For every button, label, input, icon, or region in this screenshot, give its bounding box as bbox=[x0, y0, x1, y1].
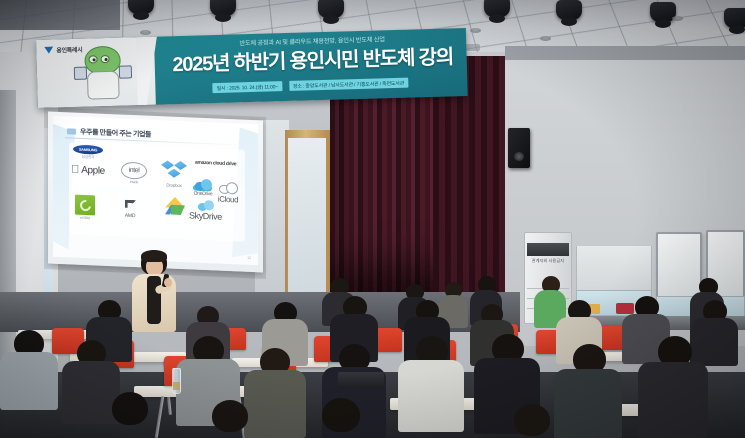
nvidia-icon bbox=[75, 195, 95, 216]
logo-label: amazon cloud drive bbox=[195, 160, 236, 168]
logo-label: Dropbox bbox=[166, 182, 181, 188]
logo-amd: AMD bbox=[123, 199, 137, 219]
chip-icon bbox=[119, 65, 132, 78]
head bbox=[112, 392, 148, 425]
presenter-fringe bbox=[141, 250, 167, 262]
banner-date: 일시 : 2025. 10. 24.(금) 11:00~ bbox=[213, 81, 283, 93]
ceiling-spotlight bbox=[724, 8, 745, 28]
presenter-inner-top bbox=[147, 276, 161, 324]
audience-member bbox=[492, 404, 570, 438]
audience-member bbox=[190, 400, 268, 438]
audience-member bbox=[92, 392, 166, 438]
intel-icon: intel bbox=[121, 162, 147, 180]
dropbox-icon bbox=[161, 158, 187, 183]
logo-intel: intel inside bbox=[121, 162, 147, 185]
ceiling-spotlight bbox=[556, 0, 582, 20]
apple-icon:  Apple bbox=[71, 164, 105, 176]
logo-label: intel bbox=[129, 167, 140, 174]
audience-member bbox=[0, 330, 58, 410]
amazon-icon: amazon cloud drive bbox=[195, 160, 236, 168]
logo-caption: AMD bbox=[125, 212, 136, 218]
samsung-icon: SAMSUNG bbox=[73, 145, 103, 155]
presenter-hand bbox=[164, 278, 172, 287]
dropbox-facet bbox=[168, 169, 181, 179]
ceiling-spotlight bbox=[128, 0, 154, 14]
skydrive-cloud-icon bbox=[197, 200, 214, 212]
gdrive-face bbox=[171, 205, 185, 216]
logo-dropbox: Dropbox bbox=[161, 158, 187, 188]
banner-footer: 일시 : 2025. 10. 24.(금) 11:00~ 장소 : 중앙도서관 … bbox=[157, 76, 463, 95]
audience-member bbox=[300, 398, 380, 438]
head bbox=[212, 400, 248, 432]
mascot-body bbox=[87, 71, 120, 100]
torso bbox=[0, 352, 58, 410]
logo-google-drive bbox=[165, 196, 185, 215]
sprinkler-head bbox=[672, 16, 683, 21]
dropbox-facet bbox=[161, 160, 174, 170]
laptop[interactable] bbox=[338, 372, 384, 388]
wall-speaker-icon bbox=[508, 128, 530, 168]
stage-door[interactable] bbox=[288, 138, 326, 295]
amd-icon bbox=[123, 199, 137, 213]
logo-onedrive: OneDrive bbox=[193, 178, 213, 198]
logo-caption: inside bbox=[130, 179, 138, 183]
event-banner: 용인특례시 반도체 공정과 AI 및 클라우드 채용전망, 용인시 반도체 산업… bbox=[36, 28, 468, 108]
torso bbox=[638, 362, 708, 438]
air-conditioner-display bbox=[527, 243, 569, 256]
amd-arrow-icon bbox=[125, 200, 136, 211]
sprinkler-head bbox=[540, 36, 551, 41]
icloud-cloud-icon bbox=[217, 181, 239, 196]
water-bottle[interactable] bbox=[172, 368, 181, 394]
audience-member bbox=[638, 336, 708, 438]
air-conditioner-label: 관계자외 사용금지 bbox=[529, 258, 567, 263]
banner-venue: 장소 : 중앙도서관 / 남사도서관 / 기흥도서관 / 죽전도서관 bbox=[289, 78, 408, 91]
logo-samsung: SAMSUNG 삼성전자 bbox=[73, 145, 103, 161]
logo-label: SkyDrive bbox=[189, 210, 222, 221]
google-drive-icon bbox=[165, 196, 185, 215]
logo-caption: nVIDIA bbox=[80, 215, 90, 219]
cloud-puff bbox=[204, 200, 214, 210]
lecture-hall-photo: 관계자외 사용금지 용인특례시 반도체 공정과 AI 및 클라우드 채용전망, … bbox=[0, 0, 745, 438]
logo-label: Apple bbox=[81, 165, 105, 177]
head bbox=[514, 404, 550, 436]
ceiling-spotlight bbox=[318, 0, 344, 18]
apple-glyph-icon:  bbox=[71, 164, 79, 175]
ceiling-shadow bbox=[0, 0, 120, 30]
sprinkler-head bbox=[470, 28, 481, 33]
window-blind[interactable] bbox=[576, 246, 652, 292]
logo-amazon-cloud-drive: amazon cloud drive bbox=[195, 160, 236, 168]
audience-member bbox=[398, 336, 464, 432]
projection-screen: 우주를 만들어 주는 기업들 SAMSUNG 삼성전자  Apple bbox=[48, 111, 263, 272]
bullet-icon bbox=[67, 128, 76, 134]
logo-label: OneDrive bbox=[194, 191, 213, 198]
ceiling-spotlight bbox=[210, 0, 236, 16]
right-wall-header bbox=[505, 46, 745, 60]
presentation-slide: 우주를 만들어 주는 기업들 SAMSUNG 삼성전자  Apple bbox=[53, 116, 258, 266]
ceiling-spotlight bbox=[484, 0, 510, 17]
logo-skydrive: SkyDrive bbox=[189, 199, 222, 221]
chip-icon bbox=[74, 67, 87, 80]
cloud-puff bbox=[226, 182, 238, 195]
cloud-puff bbox=[201, 179, 212, 190]
presenter bbox=[124, 250, 184, 332]
slide-page-number: 12 bbox=[247, 256, 251, 260]
logo-caption: 삼성전자 bbox=[82, 154, 94, 160]
slide-logo-grid: SAMSUNG 삼성전자  Apple intel inside bbox=[69, 142, 245, 241]
logo-nvidia: nVIDIA bbox=[75, 195, 95, 220]
city-emblem-icon bbox=[44, 47, 53, 54]
nvidia-eye-icon bbox=[77, 197, 92, 212]
sprinkler-head bbox=[140, 30, 151, 35]
logo-apple:  Apple bbox=[71, 164, 105, 176]
head bbox=[322, 398, 360, 432]
mascot-character-icon bbox=[74, 43, 132, 103]
torso bbox=[398, 360, 464, 432]
dropbox-facet bbox=[174, 161, 187, 171]
onedrive-cloud-icon bbox=[193, 178, 213, 192]
logo-label: SAMSUNG bbox=[79, 147, 97, 152]
